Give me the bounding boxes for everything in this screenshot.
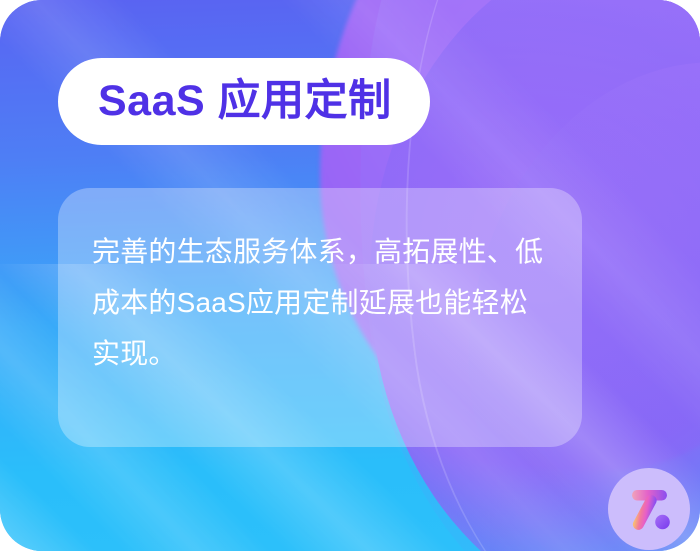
screenshot-stage: SaaS 应用定制 完善的生态服务体系，高拓展性、低成本的SaaS应用定制延展也…	[0, 0, 700, 560]
card-body-panel: 完善的生态服务体系，高拓展性、低成本的SaaS应用定制延展也能轻松实现。	[58, 188, 582, 447]
saas-feature-card: SaaS 应用定制 完善的生态服务体系，高拓展性、低成本的SaaS应用定制延展也…	[0, 0, 700, 551]
page-title: SaaS 应用定制	[98, 80, 392, 123]
card-title-pill: SaaS 应用定制	[58, 58, 430, 145]
seven-percent-logo-icon	[621, 481, 677, 537]
brand-logo-badge	[608, 468, 690, 550]
card-body-text: 完善的生态服务体系，高拓展性、低成本的SaaS应用定制延展也能轻松实现。	[92, 226, 546, 379]
